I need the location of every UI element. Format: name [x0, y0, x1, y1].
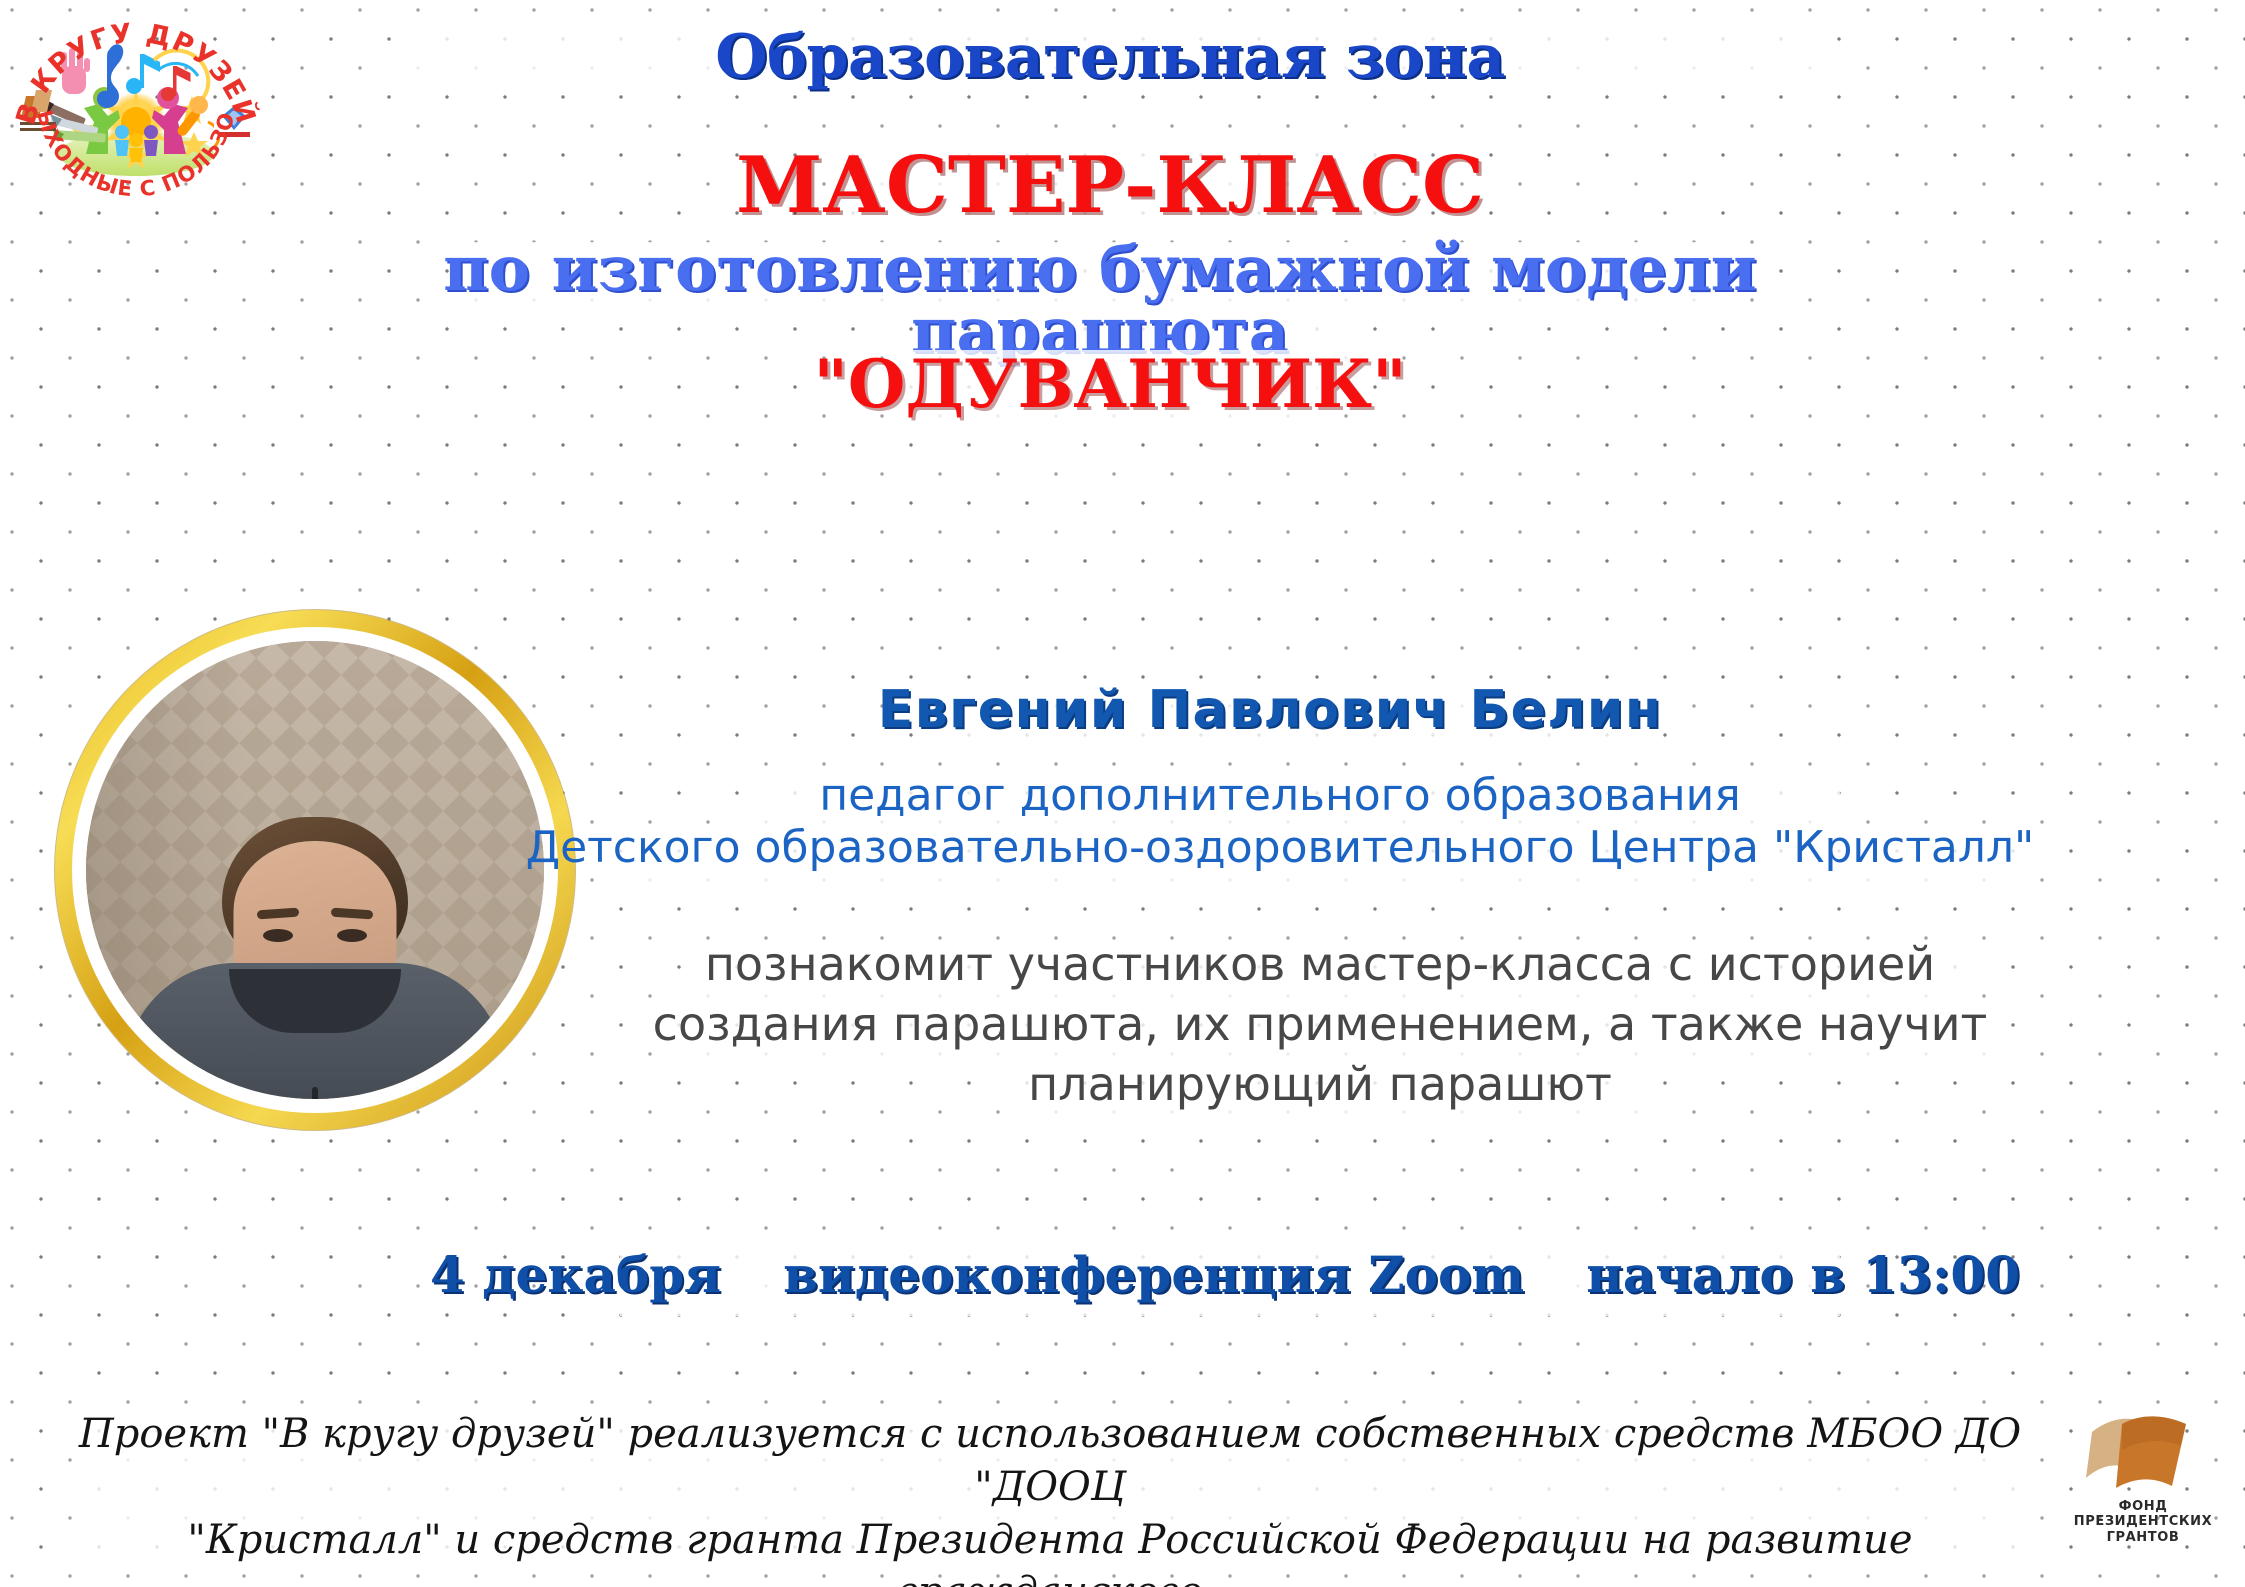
event-platform: видеоконференция Zoom — [783, 1245, 1524, 1304]
portrait-eye-right — [337, 929, 367, 942]
grant-disclaimer: Проект "В кругу друзей" реализуется с ис… — [70, 1408, 2030, 1587]
speaker-role-line-1: педагог дополнительного образования — [819, 770, 1740, 821]
poster-root: В КРУГУ ДРУЗЕЙ ВЫХОДНЫЕ С ПОЛЬЗОЙ Образо… — [0, 0, 2245, 1587]
speaker-role-block: педагог дополнительного образования Детс… — [450, 770, 2110, 874]
portrait-jacket — [125, 963, 505, 1099]
section-heading-educational-zone: Образовательная зона — [430, 22, 1790, 92]
speaker-role-line-2: Детского образовательно-оздоровительного… — [450, 822, 2110, 874]
subtitle-block: по изготовлению бумажной модели парашюта — [350, 238, 1850, 362]
presidential-grants-fund-logo: ФОНД ПРЕЗИДЕНТСКИХ ГРАНТОВ — [2068, 1408, 2218, 1568]
footer-line-2: "Кристалл" и средств гранта Президента Р… — [70, 1514, 2030, 1587]
event-date: 4 декабря — [430, 1245, 721, 1304]
fund-caption-line-3: ГРАНТОВ — [2068, 1530, 2218, 1545]
fund-ribbon-icon — [2078, 1408, 2208, 1496]
event-details-line: 4 декабрявидеоконференция Zoomначало в 1… — [430, 1245, 1870, 1304]
description-line-2: создания парашюта, их применением, а так… — [560, 995, 2080, 1055]
fund-caption-line-2: ПРЕЗИДЕНТСКИХ — [2068, 1514, 2218, 1529]
portrait-jacket-zipper — [312, 1087, 318, 1099]
portrait-eye-left — [263, 929, 293, 942]
speaker-full-name: Евгений Павлович Белин — [620, 680, 1920, 740]
fund-caption-line-1: ФОНД — [2068, 1499, 2218, 1514]
description-line-1: познакомит участников мастер-класса с ис… — [560, 935, 2080, 995]
event-description: познакомит участников мастер-класса с ис… — [560, 935, 2080, 1114]
project-name-oduvanchik: "ОДУВАНЧИК" — [430, 345, 1790, 423]
footer-line-1: Проект "В кругу друзей" реализуется с ис… — [70, 1408, 2030, 1514]
event-start-time: начало в 13:00 — [1586, 1245, 2020, 1304]
page-title-master-class: МАСТЕР-КЛАСС — [430, 140, 1790, 231]
description-line-3: планирующий парашют — [560, 1055, 2080, 1115]
project-logo: В КРУГУ ДРУЗЕЙ ВЫХОДНЫЕ С ПОЛЬЗОЙ — [8, 4, 264, 212]
fund-logo-caption: ФОНД ПРЕЗИДЕНТСКИХ ГРАНТОВ — [2068, 1499, 2218, 1545]
